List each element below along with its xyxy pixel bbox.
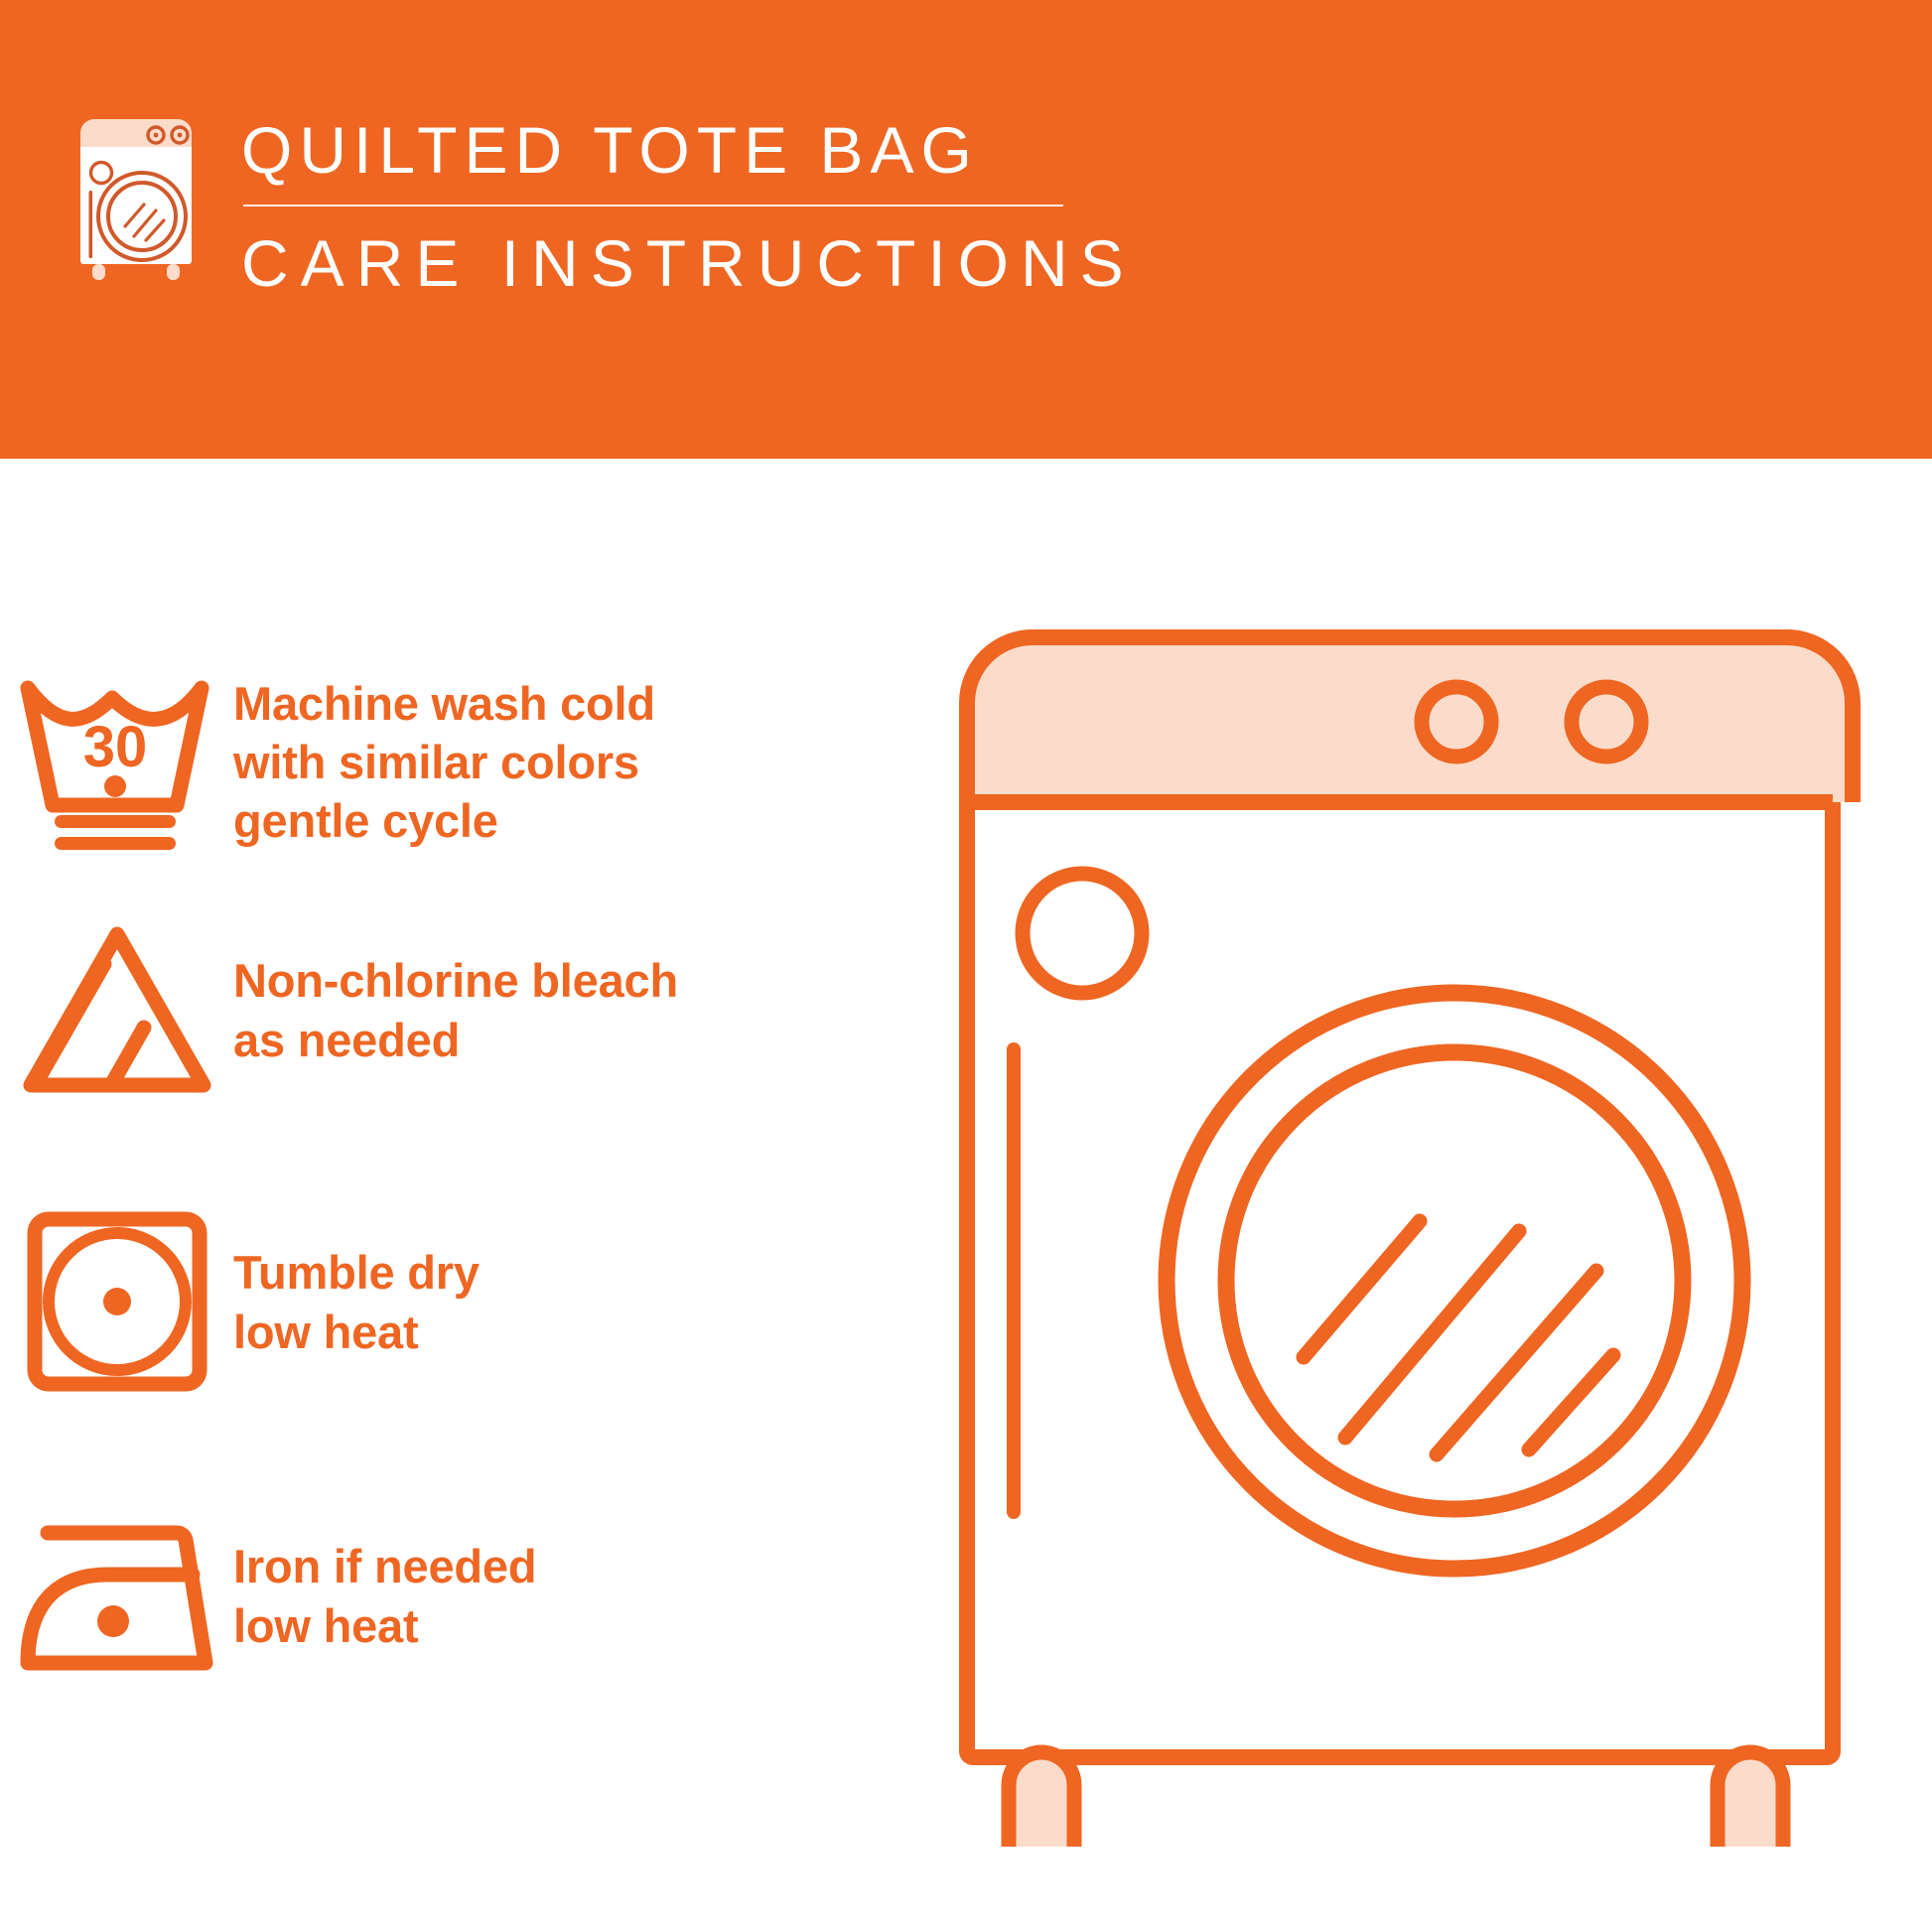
front-load-washing-machine-illustration (953, 625, 1866, 1847)
non-chlorine-bleach-triangle-icon (0, 903, 233, 1117)
leg-right (1718, 1752, 1783, 1847)
title-divider (243, 205, 1063, 207)
care-row-iron: Iron if needed low heat (0, 1489, 923, 1703)
detergent-dispenser (1023, 874, 1142, 993)
care-label-iron: Iron if needed low heat (233, 1537, 536, 1654)
care-row-bleach: Non-chlorine bleach as needed (0, 903, 923, 1117)
care-row-wash: 30 Machine wash cold with similar colors… (0, 655, 923, 869)
care-label-wash: Machine wash cold with similar colors ge… (233, 674, 655, 851)
knob-left (1422, 687, 1491, 757)
page-title: QUILTED TOTE BAG (241, 117, 1136, 183)
wash-tub-30-gentle-icon: 30 (0, 655, 233, 869)
washing-machine-icon (74, 111, 206, 282)
iron-low-heat-icon (0, 1489, 233, 1703)
page-subtitle: CARE INSTRUCTIONS (241, 230, 1136, 296)
header-banner: QUILTED TOTE BAG CARE INSTRUCTIONS (0, 0, 1932, 459)
tumble-dry-low-heat-icon (0, 1195, 233, 1409)
header-content: QUILTED TOTE BAG CARE INSTRUCTIONS (74, 111, 1136, 296)
care-row-tumble-dry: Tumble dry low heat (0, 1195, 923, 1409)
care-instruction-list: 30 Machine wash cold with similar colors… (0, 459, 923, 1932)
knob-right (1572, 687, 1641, 757)
care-label-tumble-dry: Tumble dry low heat (233, 1243, 480, 1360)
care-label-bleach: Non-chlorine bleach as needed (233, 951, 678, 1068)
leg-left (1009, 1752, 1074, 1847)
status-bar (1007, 1042, 1021, 1519)
care-instructions-poster: QUILTED TOTE BAG CARE INSTRUCTIONS 30 Ma… (0, 0, 1932, 1932)
header-titles: QUILTED TOTE BAG CARE INSTRUCTIONS (241, 111, 1136, 296)
wash-temperature-value: 30 (82, 715, 147, 779)
